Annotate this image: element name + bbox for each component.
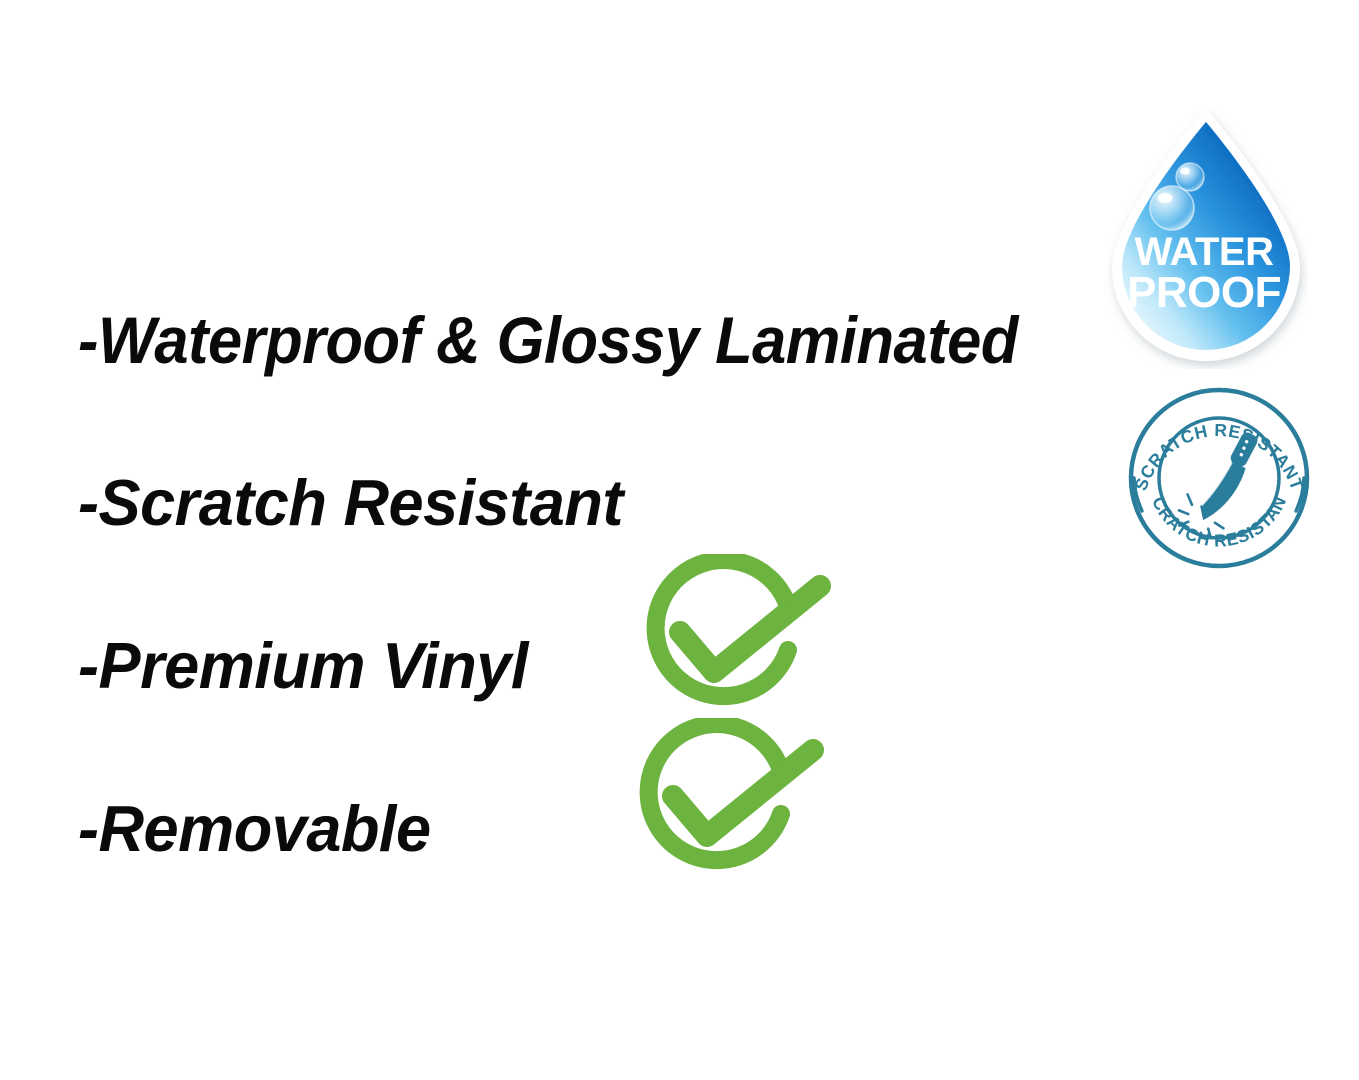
check-tick-icon (680, 586, 820, 672)
feature-row: -Scratch Resistant (78, 421, 1098, 584)
bubble-icon-large (1150, 186, 1194, 230)
feature-row: -Premium Vinyl (78, 584, 1098, 747)
waterproof-line2: PROOF (1127, 268, 1281, 317)
feature-list: -Waterproof & Glossy Laminated -Scratch … (78, 258, 1098, 910)
checkmark-premium-vinyl (638, 554, 834, 716)
checkmark-removable (631, 718, 827, 880)
feature-label-premium-vinyl: -Premium Vinyl (78, 633, 528, 698)
feature-label-scratch-resistant: -Scratch Resistant (78, 470, 623, 535)
waterproof-badge: WATER PROOF (1104, 105, 1308, 369)
feature-row: -Waterproof & Glossy Laminated (78, 258, 1098, 421)
feature-row: -Removable (78, 747, 1098, 910)
promo-canvas: -Waterproof & Glossy Laminated -Scratch … (0, 0, 1359, 1080)
feature-label-waterproof: -Waterproof & Glossy Laminated (78, 307, 1018, 373)
feature-label-removable: -Removable (78, 796, 431, 861)
check-tick-icon (673, 750, 813, 836)
scratch-resistant-badge: SCRATCH RESISTANT SCRATCH RESISTANT (1124, 383, 1314, 573)
